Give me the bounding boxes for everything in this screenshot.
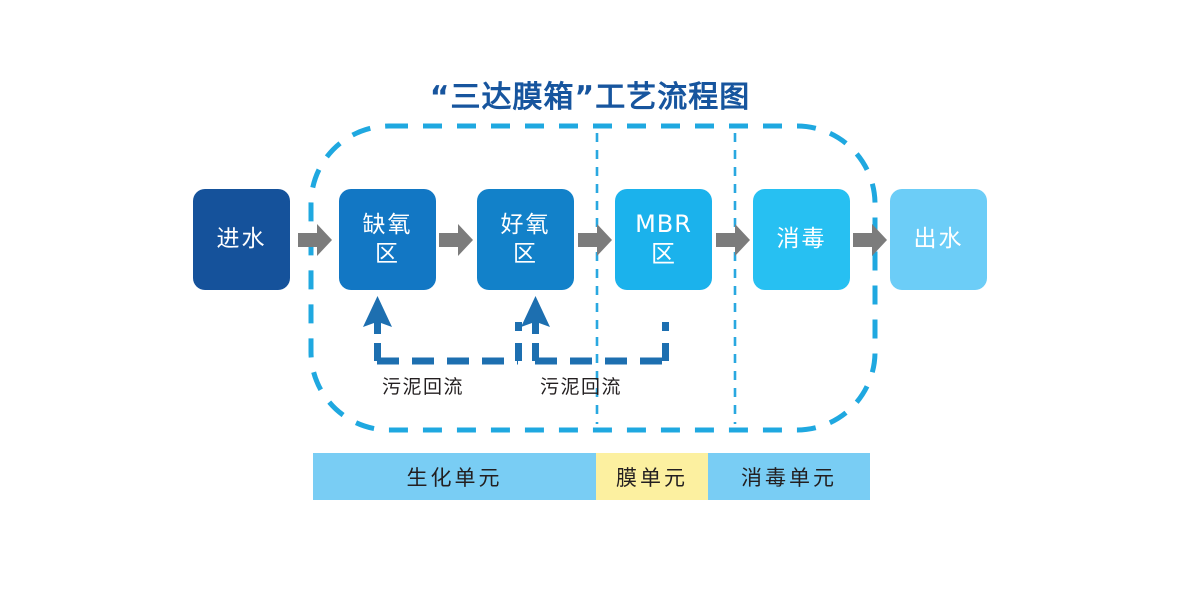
process-box-anoxic-label-line1: 缺氧 [361,211,415,239]
flow-diagram-canvas: “三达膜箱”工艺流程图 进水 缺氧 [0,0,1180,599]
sludge-return-2-arrowhead [521,296,550,334]
sludge-return-label-2: 污泥回流 [540,372,622,399]
sludge-return-path-2 [521,296,666,361]
legend-item-disinfect-label: 消毒单元 [741,462,837,492]
process-box-aerobic-label-line1: 好氧 [499,211,553,239]
process-box-mbr-label-line1: MBR [633,210,694,239]
process-box-aerobic[interactable]: 好氧 区 [477,189,574,290]
process-box-anoxic[interactable]: 缺氧 区 [339,189,436,290]
process-box-outlet[interactable]: 出水 [890,189,987,290]
legend-item-membrane[interactable]: 膜单元 [596,453,708,500]
legend-item-bio-label: 生化单元 [407,462,503,492]
process-box-inlet-label: 进水 [215,225,269,253]
legend-item-membrane-label: 膜单元 [616,462,688,492]
process-box-inlet[interactable]: 进水 [193,189,290,290]
flow-arrow-icon-5 [853,224,887,256]
sludge-return-1-arrowhead [363,296,392,334]
unit-legend: 生化单元 膜单元 消毒单元 [313,453,870,500]
legend-item-bio[interactable]: 生化单元 [313,453,596,500]
flow-arrow-icon-1 [298,224,332,256]
process-box-outlet-label: 出水 [912,225,966,253]
process-box-anoxic-label-line2: 区 [373,240,402,268]
process-box-aerobic-label-line2: 区 [511,240,540,268]
flow-arrow-icon-2 [439,224,473,256]
process-box-disinfection[interactable]: 消毒 [753,189,850,290]
legend-item-disinfect[interactable]: 消毒单元 [708,453,870,500]
sludge-return-label-1: 污泥回流 [382,372,464,399]
process-box-disinfection-label: 消毒 [775,225,829,253]
flow-arrow-icon-4 [716,224,750,256]
diagram-lines-layer [0,0,1180,599]
process-box-mbr-label-line2: 区 [649,240,678,269]
sludge-return-path-1 [363,296,519,361]
process-box-mbr[interactable]: MBR 区 [615,189,712,290]
flow-arrow-icon-3 [578,224,612,256]
